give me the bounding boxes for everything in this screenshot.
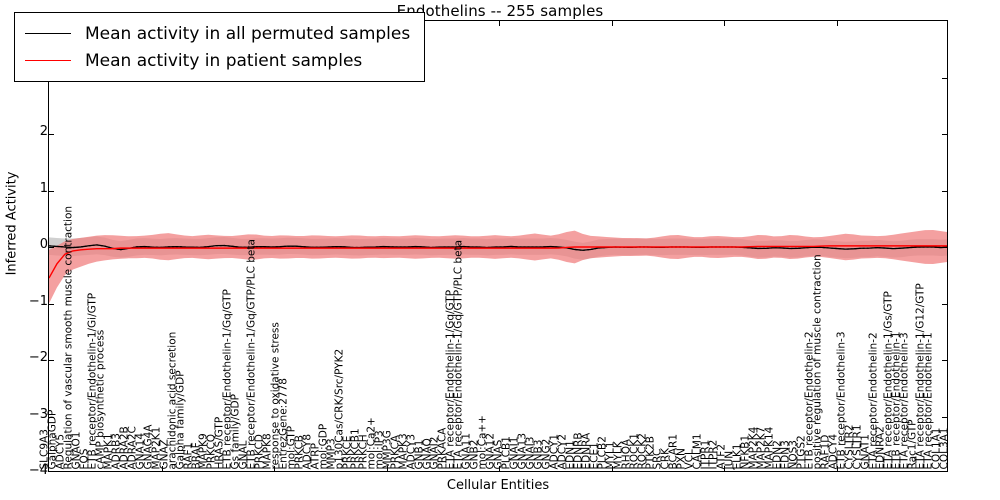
y-tick-mark [49,191,54,192]
y-tick-mark [942,417,947,418]
series-plot [49,21,948,472]
x-tick-mark [612,466,613,471]
y-tick-mark [942,247,947,248]
y-tick-label: −1 [8,294,48,309]
y-tick-mark [942,134,947,135]
y-tick-mark [49,134,54,135]
x-tick-mark [837,21,838,26]
y-tick-label: −3 [8,407,48,422]
plot-area [48,20,948,472]
y-tick-mark [49,247,54,248]
chart-legend: Mean activity in all permuted samples Me… [14,12,425,82]
legend-item-permuted: Mean activity in all permuted samples [25,20,410,47]
x-tick-mark [499,466,500,471]
y-tick-label: 1 [8,181,48,196]
x-tick-mark [724,466,725,471]
y-tick-mark [942,78,947,79]
x-tick-mark [724,21,725,26]
y-tick-mark [942,304,947,305]
patient-confidence-band [49,230,948,303]
y-tick-label: −4 [8,463,48,478]
x-tick-mark [499,21,500,26]
x-tick-mark [274,466,275,471]
legend-label-patient: Mean activity in patient samples [85,51,362,71]
y-tick-label: 2 [8,124,48,139]
x-tick-mark [387,466,388,471]
y-tick-mark [942,360,947,361]
x-tick-mark [837,466,838,471]
y-tick-mark [49,360,54,361]
y-tick-mark [49,304,54,305]
x-tick-mark [162,466,163,471]
figure: Endothelins -- 255 samples Inferred Acti… [0,0,1000,500]
x-axis-label: Cellular Entities [48,478,948,493]
x-tick-mark [612,21,613,26]
y-tick-mark [942,191,947,192]
y-tick-label: −2 [8,350,48,365]
legend-swatch-red-line [25,60,71,61]
y-tick-mark [49,417,54,418]
y-tick-label: 0 [8,237,48,252]
legend-swatch-black-line [25,33,71,34]
legend-item-patient: Mean activity in patient samples [25,47,410,74]
legend-label-permuted: Mean activity in all permuted samples [85,24,410,44]
